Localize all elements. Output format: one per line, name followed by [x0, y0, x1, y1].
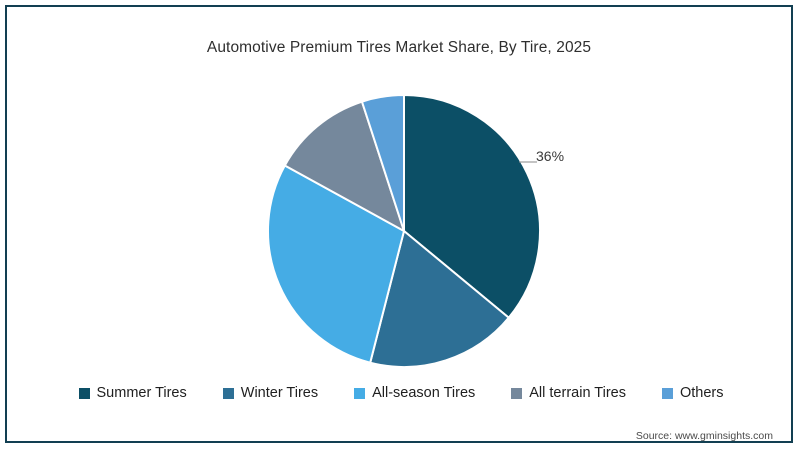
pie-slice-winter-tires[interactable]	[370, 231, 509, 367]
legend-swatch-icon-all-terrain-tires	[511, 388, 522, 399]
pie-slice-all-terrain-tires[interactable]	[285, 102, 404, 231]
legend-item-all-terrain-tires[interactable]: All terrain Tires	[511, 385, 626, 401]
pie-slice-group	[268, 95, 540, 367]
legend-item-label: All-season Tires	[372, 385, 475, 401]
pie-slice-all-season-tires[interactable]	[268, 165, 404, 362]
pie-slice-summer-tires[interactable]	[404, 95, 540, 318]
legend-swatch-icon-others	[662, 388, 673, 399]
legend-item-label: Summer Tires	[97, 385, 187, 401]
legend-item-summer-tires[interactable]: Summer Tires	[79, 385, 187, 401]
legend-item-label: All terrain Tires	[529, 385, 626, 401]
legend-swatch-icon-all-season-tires	[354, 388, 365, 399]
legend-swatch-icon-winter-tires	[223, 388, 234, 399]
legend-item-label: Winter Tires	[241, 385, 318, 401]
pie-chart	[7, 7, 795, 445]
pie-slice-others[interactable]	[362, 95, 404, 231]
chart-legend: Summer TiresWinter TiresAll-season Tires…	[7, 385, 795, 401]
legend-item-all-season-tires[interactable]: All-season Tires	[354, 385, 475, 401]
legend-item-others[interactable]: Others	[662, 385, 724, 401]
slice-data-label-summer-tires: 36%	[536, 148, 564, 164]
chart-card: Automotive Premium Tires Market Share, B…	[5, 5, 793, 443]
legend-item-label: Others	[680, 385, 724, 401]
source-note: Source: www.gminsights.com	[636, 430, 773, 442]
legend-item-winter-tires[interactable]: Winter Tires	[223, 385, 318, 401]
legend-swatch-icon-summer-tires	[79, 388, 90, 399]
page-title: Automotive Premium Tires Market Share, B…	[7, 39, 791, 57]
pie-chart-svg	[7, 7, 795, 445]
